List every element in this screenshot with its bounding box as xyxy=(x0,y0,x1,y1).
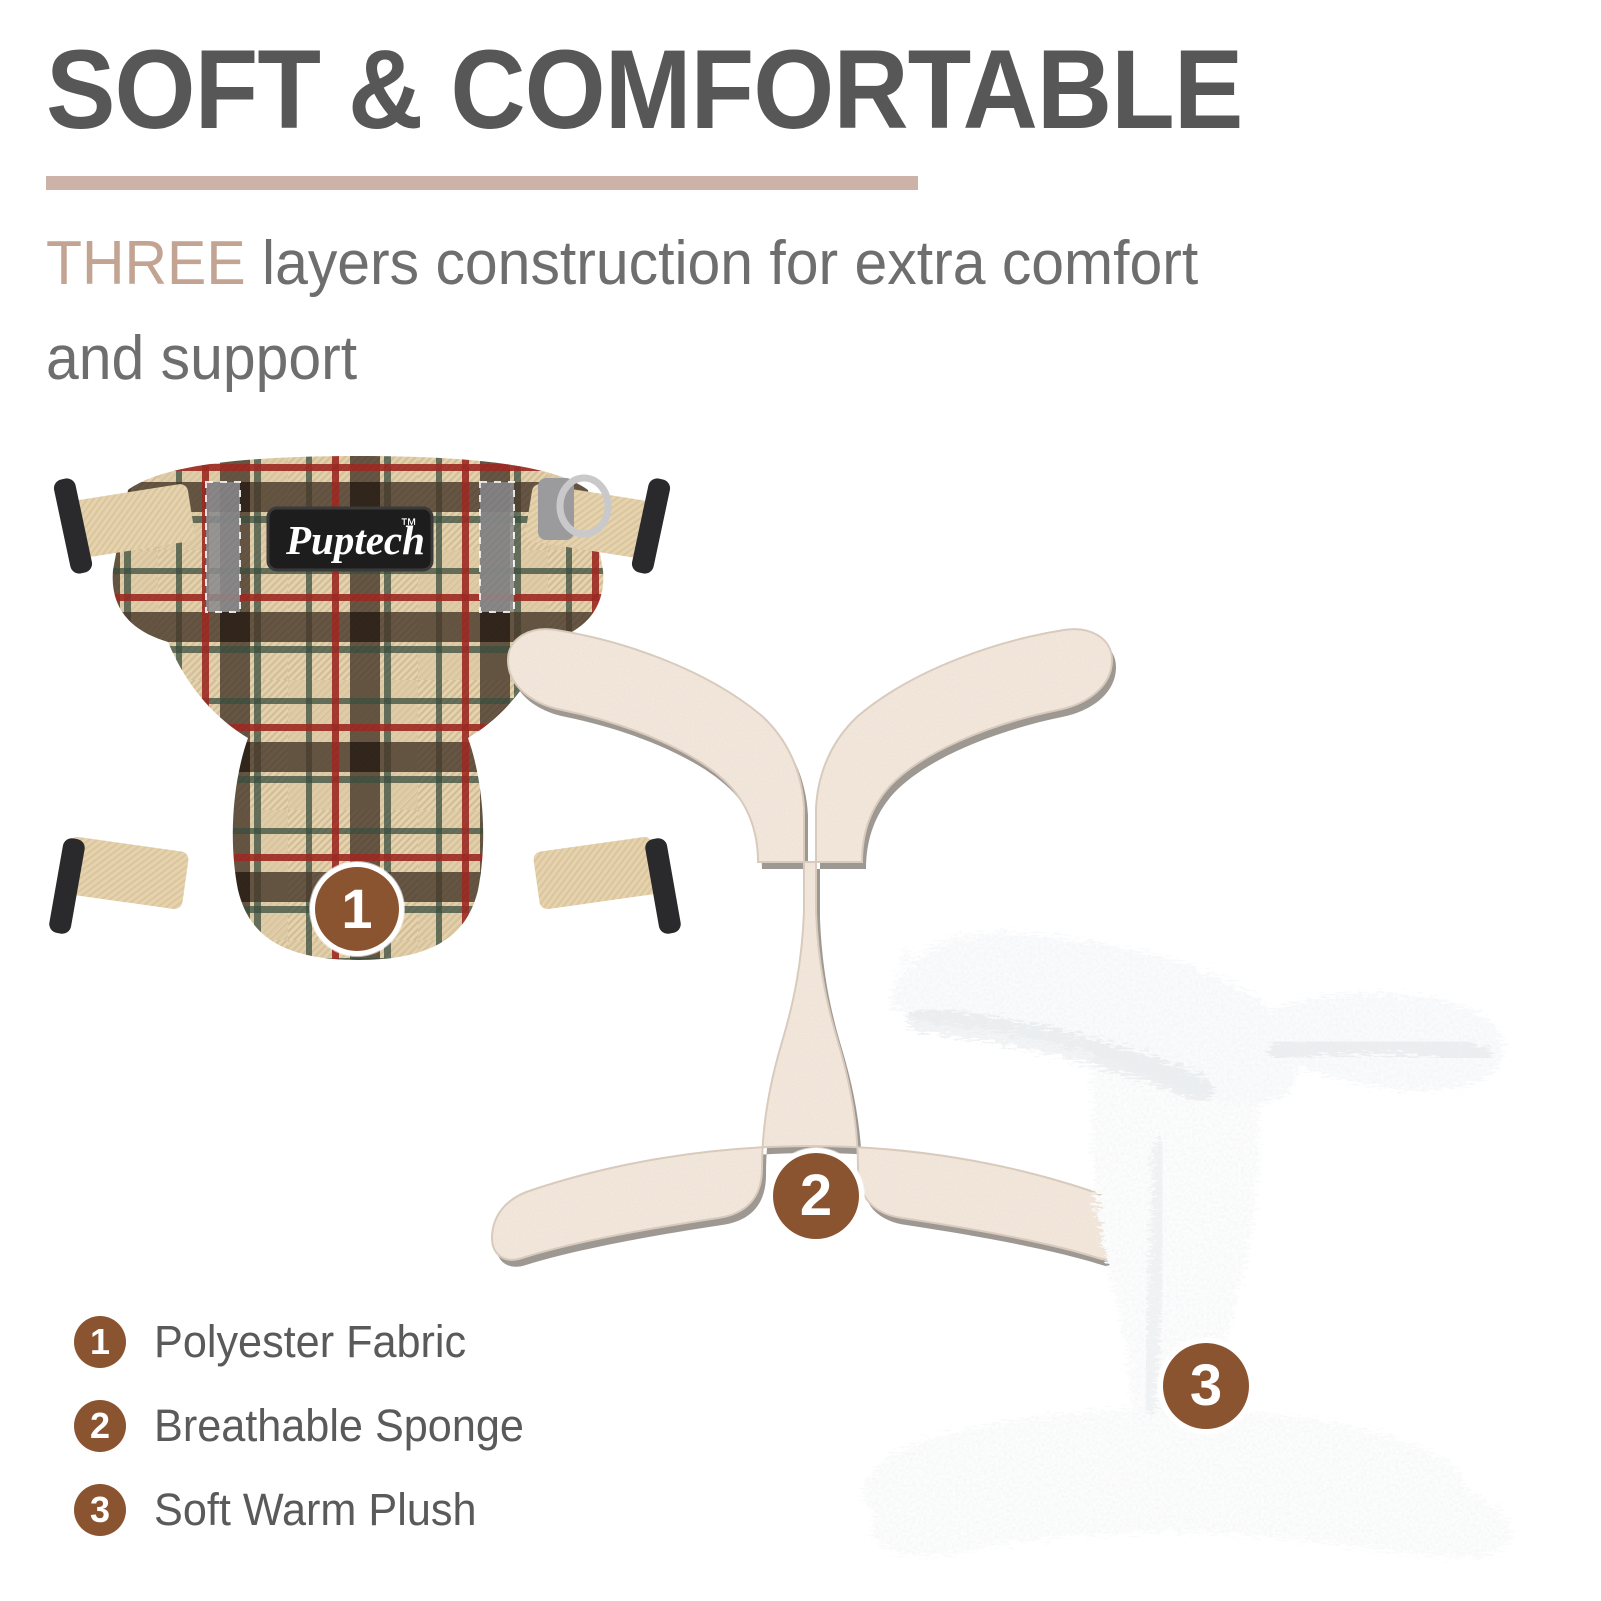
legend-badge-3: 3 xyxy=(74,1484,126,1536)
subtitle-highlight: THREE xyxy=(46,229,246,298)
legend: 1 Polyester Fabric 2 Breathable Sponge 3… xyxy=(74,1300,539,1552)
legend-item: 1 Polyester Fabric xyxy=(74,1300,539,1384)
legend-label-1: Polyester Fabric xyxy=(154,1316,466,1368)
legend-item: 3 Soft Warm Plush xyxy=(74,1468,539,1552)
svg-text:™: ™ xyxy=(400,515,417,534)
legend-label-3: Soft Warm Plush xyxy=(154,1484,476,1536)
page-title: SOFT & COMFORTABLE xyxy=(46,34,1255,146)
callout-badge-3: 3 xyxy=(1158,1338,1254,1434)
brand-patch: Puptech ™ xyxy=(268,508,432,570)
infographic-canvas: SOFT & COMFORTABLE THREE layers construc… xyxy=(0,0,1601,1601)
legend-badge-1: 1 xyxy=(74,1316,126,1368)
product-image-soft-warm-plush xyxy=(830,850,1550,1570)
legend-item: 2 Breathable Sponge xyxy=(74,1384,539,1468)
callout-badge-2: 2 xyxy=(768,1148,864,1244)
title-accent-bar xyxy=(46,176,918,190)
callout-badge-1: 1 xyxy=(310,862,404,956)
legend-label-2: Breathable Sponge xyxy=(154,1400,524,1452)
page-subtitle: THREE layers construction for extra comf… xyxy=(46,216,1215,406)
legend-badge-2: 2 xyxy=(74,1400,126,1452)
